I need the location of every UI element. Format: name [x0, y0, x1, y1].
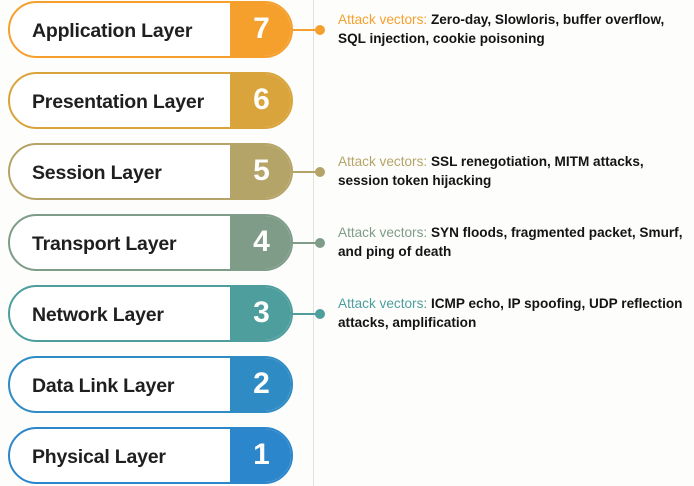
- layer-number-text: 7: [230, 1, 293, 58]
- layer-number-badge: 3: [230, 285, 293, 342]
- layer-number-badge: 1: [230, 427, 293, 484]
- layer-name-label: Network Layer: [32, 287, 164, 342]
- layer-number-text: 6: [230, 72, 293, 129]
- layer-row[interactable]: Data Link Layer2: [8, 356, 293, 413]
- annotation-label: Attack vectors:: [338, 12, 427, 27]
- layer-name-label: Data Link Layer: [32, 358, 174, 413]
- attack-vectors-annotation: Attack vectors: ICMP echo, IP spoofing, …: [338, 294, 688, 333]
- layer-name-label: Session Layer: [32, 145, 162, 200]
- layer-number-badge: 6: [230, 72, 293, 129]
- layer-pill[interactable]: Physical Layer1: [8, 427, 293, 484]
- layer-number-badge: 2: [230, 356, 293, 413]
- layer-pill[interactable]: Network Layer3: [8, 285, 293, 342]
- layer-name-label: Application Layer: [32, 3, 192, 58]
- layer-pill[interactable]: Presentation Layer6: [8, 72, 293, 129]
- layer-pill[interactable]: Session Layer5: [8, 143, 293, 200]
- layer-connector: [293, 309, 325, 319]
- layer-name-label: Transport Layer: [32, 216, 176, 271]
- layer-number-badge: 4: [230, 214, 293, 271]
- osi-model-diagram: Application Layer7Presentation Layer6Ses…: [0, 0, 694, 486]
- connector-dot: [315, 167, 325, 177]
- layer-connector: [293, 25, 325, 35]
- layer-number-text: 4: [230, 214, 293, 271]
- connector-dot: [315, 309, 325, 319]
- layer-name-label: Presentation Layer: [32, 74, 204, 129]
- layer-number-text: 2: [230, 356, 293, 413]
- layer-name-label: Physical Layer: [32, 429, 166, 484]
- layer-number-text: 1: [230, 427, 293, 484]
- attack-vectors-annotation: Attack vectors: SSL renegotiation, MITM …: [338, 152, 688, 191]
- attack-vectors-annotation: Attack vectors: Zero-day, Slowloris, buf…: [338, 10, 688, 49]
- layer-row[interactable]: Physical Layer1: [8, 427, 293, 484]
- layer-row[interactable]: Presentation Layer6: [8, 72, 293, 129]
- layer-number-text: 3: [230, 285, 293, 342]
- layer-pill[interactable]: Application Layer7: [8, 1, 293, 58]
- attack-vectors-annotation: Attack vectors: SYN floods, fragmented p…: [338, 223, 688, 262]
- layer-connector: [293, 167, 325, 177]
- annotation-label: Attack vectors:: [338, 296, 427, 311]
- layer-row[interactable]: Session Layer5: [8, 143, 293, 200]
- layer-row[interactable]: Network Layer3: [8, 285, 293, 342]
- annotation-label: Attack vectors:: [338, 225, 427, 240]
- layer-number-badge: 5: [230, 143, 293, 200]
- layer-row[interactable]: Application Layer7: [8, 1, 293, 58]
- layer-number-badge: 7: [230, 1, 293, 58]
- layer-connector: [293, 238, 325, 248]
- layer-row[interactable]: Transport Layer4: [8, 214, 293, 271]
- connector-dot: [315, 25, 325, 35]
- layer-pill[interactable]: Data Link Layer2: [8, 356, 293, 413]
- layer-number-text: 5: [230, 143, 293, 200]
- annotation-label: Attack vectors:: [338, 154, 427, 169]
- connector-dot: [315, 238, 325, 248]
- layer-pill[interactable]: Transport Layer4: [8, 214, 293, 271]
